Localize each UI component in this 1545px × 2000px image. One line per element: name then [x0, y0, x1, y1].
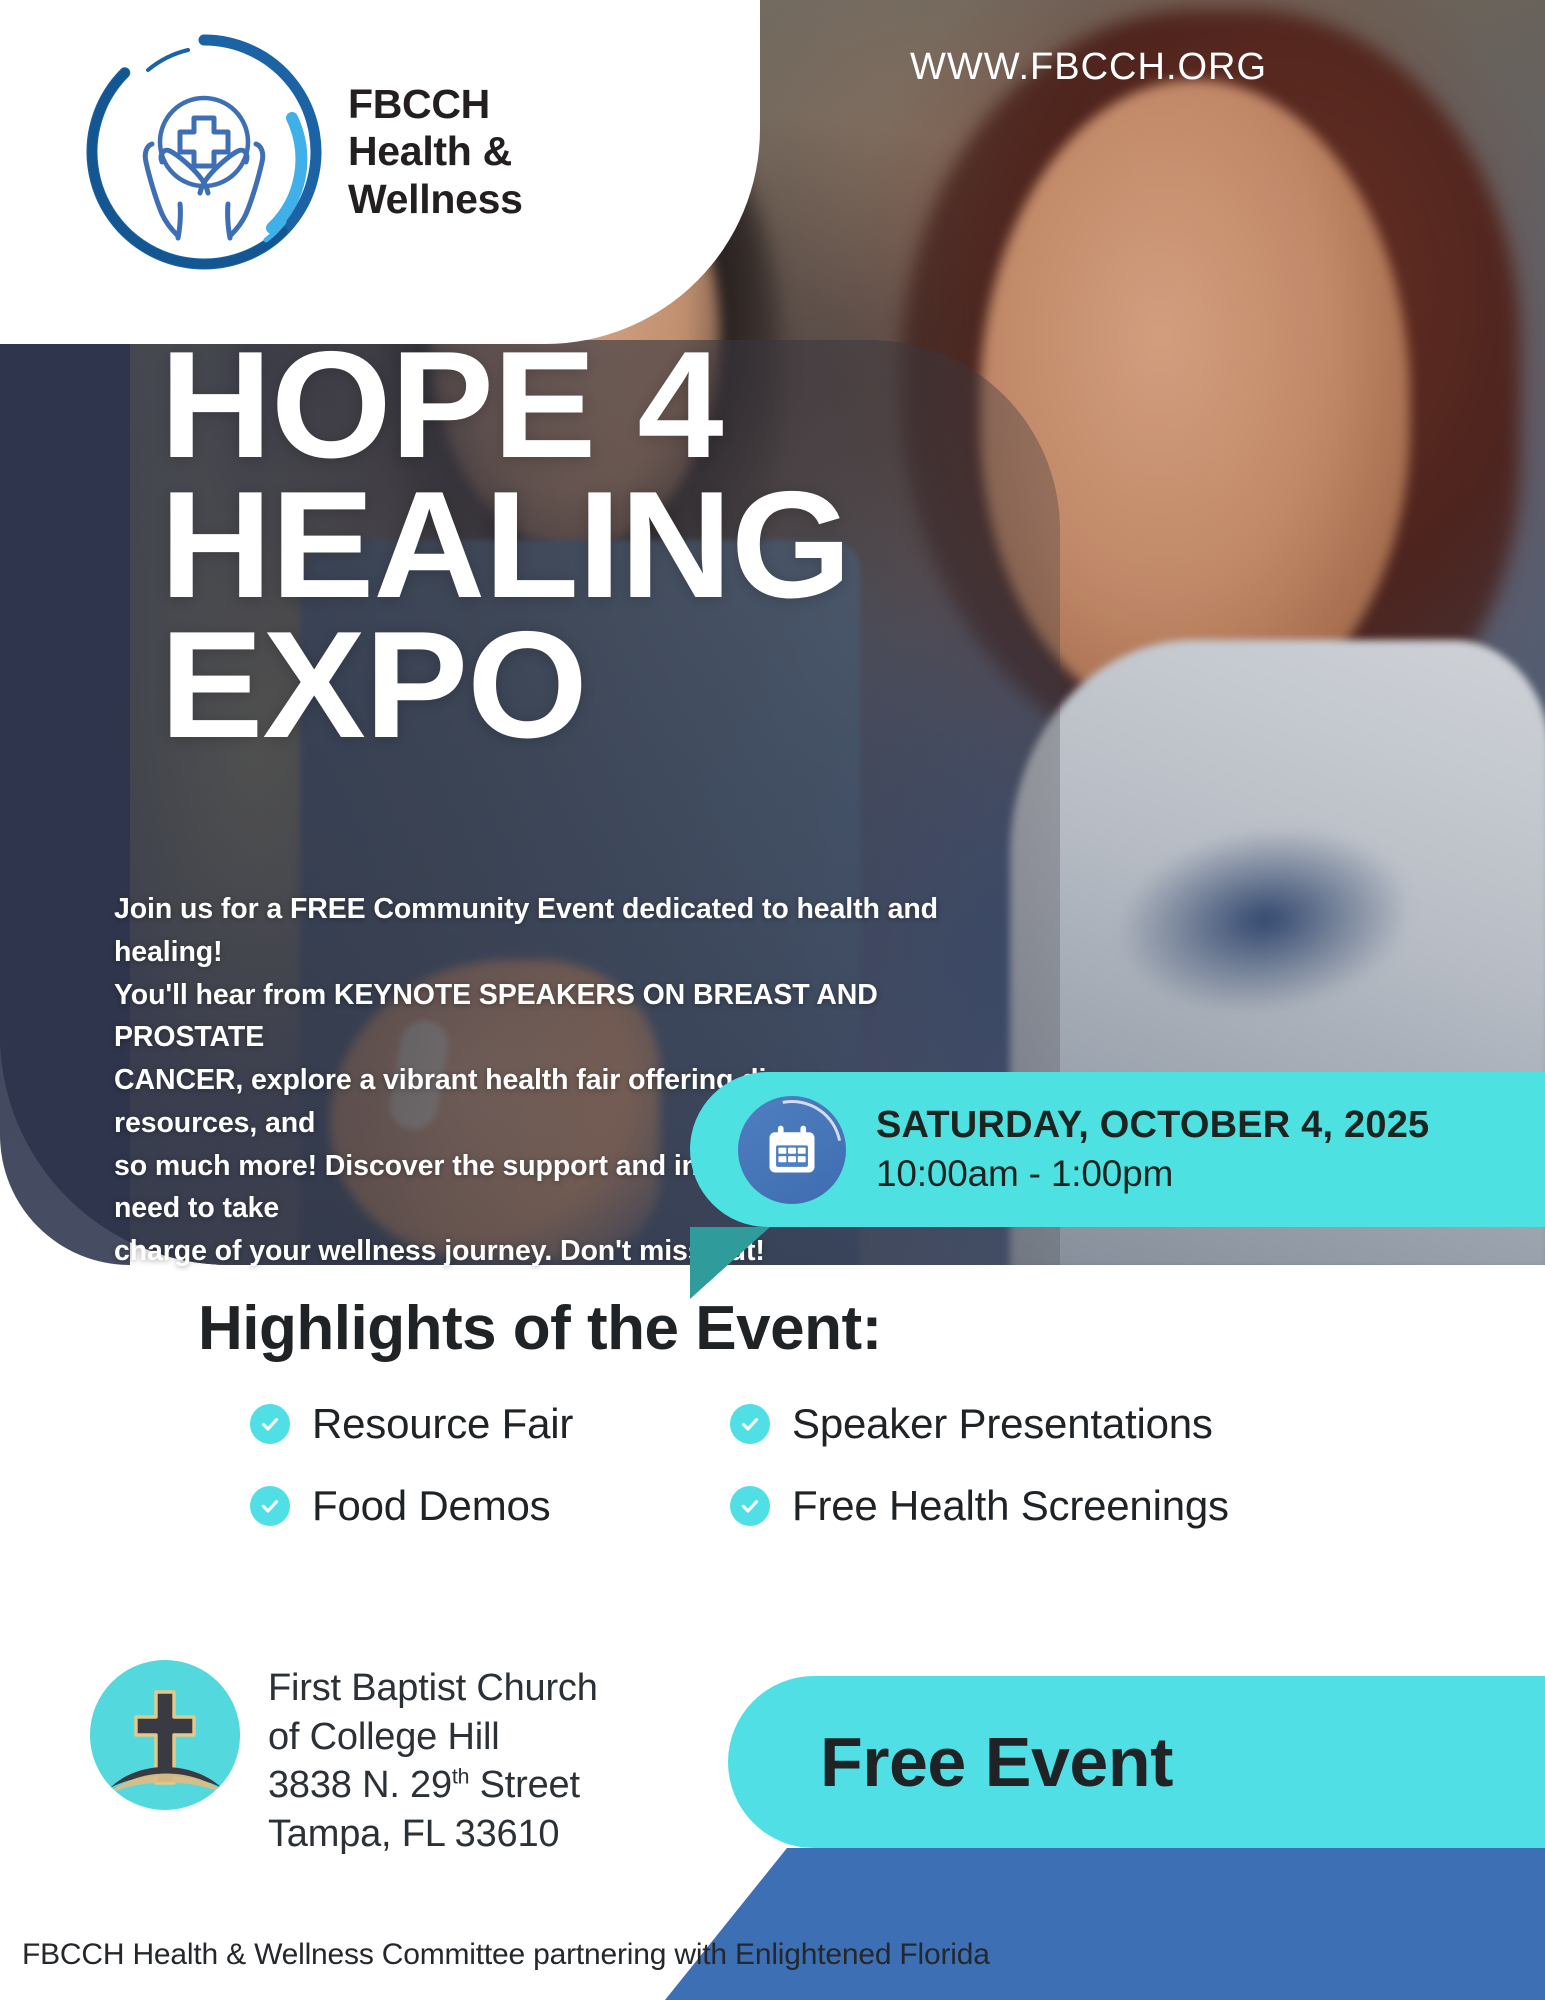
event-date: SATURDAY, OCTOBER 4, 2025: [876, 1104, 1429, 1147]
list-item: Speaker Presentations: [730, 1400, 1250, 1448]
event-flyer: FBCCH Health & Wellness HOPE 4 HEALING E…: [0, 0, 1545, 2000]
list-item: Free Health Screenings: [730, 1482, 1250, 1530]
venue-city-state-zip: Tampa, FL 33610: [268, 1810, 598, 1859]
hands-holding-medical-cross-icon: [78, 26, 330, 278]
venue-name-line-1: First Baptist Church: [268, 1664, 598, 1713]
calendar-icon: [738, 1096, 846, 1204]
hero-dark-overlay-left: [0, 340, 130, 1265]
check-circle-icon: [730, 1404, 770, 1444]
venue-block: First Baptist Church of College Hill 383…: [90, 1660, 598, 1859]
venue-street: 3838 N. 29th Street: [268, 1761, 598, 1810]
footer-note: FBCCH Health & Wellness Committee partne…: [22, 1938, 990, 1972]
highlight-label: Free Health Screenings: [792, 1482, 1229, 1530]
check-circle-icon: [250, 1404, 290, 1444]
title-block: HOPE 4 HEALING EXPO: [160, 336, 920, 755]
list-item: Food Demos: [250, 1482, 730, 1530]
event-time: 10:00am - 1:00pm: [876, 1153, 1429, 1195]
page-title: HOPE 4 HEALING EXPO: [160, 336, 935, 755]
hero-description-line-2: You'll hear from KEYNOTE SPEAKERS ON BRE…: [114, 974, 944, 1060]
venue-address: First Baptist Church of College Hill 383…: [268, 1660, 598, 1859]
footer-blue-shape: [665, 1848, 1545, 2000]
venue-name-line-2: of College Hill: [268, 1713, 598, 1762]
highlights-list: Resource Fair Speaker Presentations Food…: [250, 1400, 1330, 1530]
check-circle-icon: [250, 1486, 290, 1526]
event-datetime: SATURDAY, OCTOBER 4, 2025 10:00am - 1:00…: [876, 1104, 1429, 1195]
highlights-heading: Highlights of the Event:: [198, 1293, 882, 1364]
check-circle-icon: [730, 1486, 770, 1526]
brand-logo: FBCCH Health & Wellness: [78, 22, 548, 282]
highlight-label: Food Demos: [312, 1482, 550, 1530]
hero-description-line-5: charge of your wellness journey. Don't m…: [114, 1230, 944, 1273]
church-cross-icon: [90, 1660, 240, 1810]
brand-logo-text: FBCCH Health & Wellness: [348, 81, 523, 224]
hero-description-line-1: Join us for a FREE Community Event dedic…: [114, 888, 944, 974]
venue-street-suffix: Street: [469, 1764, 580, 1806]
venue-street-number: 3838 N. 29: [268, 1764, 452, 1806]
free-event-label: Free Event: [820, 1722, 1173, 1802]
footer-panel: [0, 1848, 1545, 2000]
list-item: Resource Fair: [250, 1400, 730, 1448]
venue-street-ordinal: th: [452, 1765, 469, 1789]
free-event-badge: Free Event: [728, 1676, 1545, 1848]
highlight-label: Speaker Presentations: [792, 1400, 1213, 1448]
highlight-label: Resource Fair: [312, 1400, 573, 1448]
date-banner: SATURDAY, OCTOBER 4, 2025 10:00am - 1:00…: [690, 1072, 1545, 1227]
website-link[interactable]: WWW.FBCCH.ORG: [910, 46, 1267, 89]
